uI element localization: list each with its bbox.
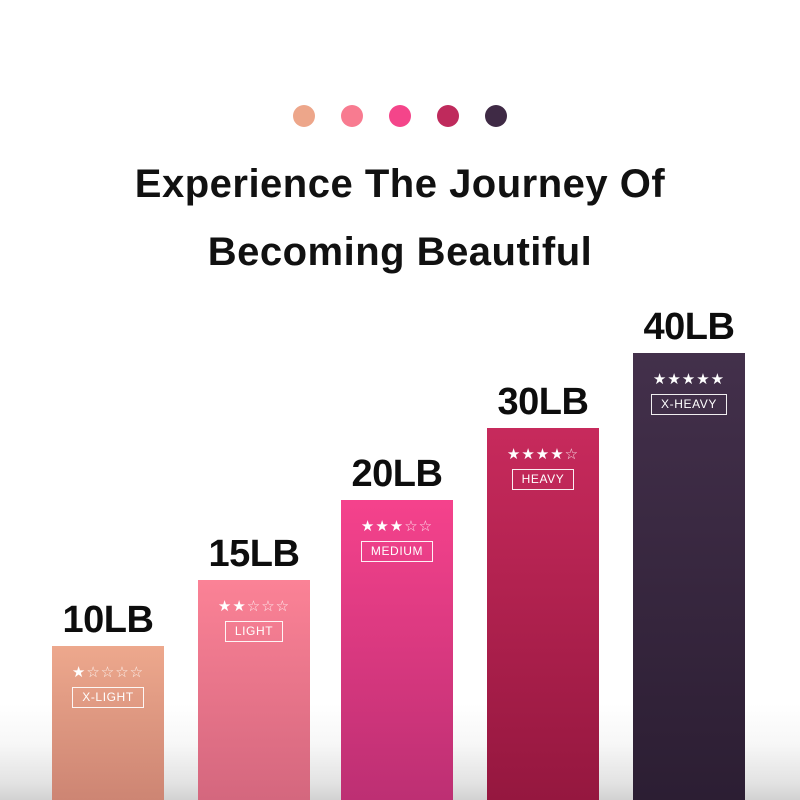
bar-level-badge: MEDIUM [361,541,433,562]
bar-fill: ★★★★★X-HEAVY [633,353,745,800]
bar-20lb[interactable]: 20LB★★★☆☆MEDIUM [341,500,453,800]
star-empty-icon: ☆ [101,663,115,681]
star-filled-icon: ★ [390,517,404,535]
star-empty-icon: ☆ [419,517,433,535]
bar-weight-label: 15LB [209,534,300,574]
star-filled-icon: ★ [507,445,521,463]
bar-fill: ★★★★☆HEAVY [487,428,599,800]
bar-level-badge: X-HEAVY [651,394,727,415]
bar-star-rating: ★★☆☆☆ [198,598,310,614]
star-empty-icon: ☆ [247,597,261,615]
star-filled-icon: ★ [72,663,86,681]
bar-star-rating: ★★★★☆ [487,446,599,462]
star-filled-icon: ★ [653,370,667,388]
star-filled-icon: ★ [361,517,375,535]
star-empty-icon: ☆ [86,663,100,681]
star-filled-icon: ★ [550,445,564,463]
bar-fill: ★★☆☆☆LIGHT [198,580,310,800]
star-empty-icon: ☆ [565,445,579,463]
bar-weight-label: 20LB [352,454,443,494]
bar-30lb[interactable]: 30LB★★★★☆HEAVY [487,428,599,800]
bar-star-rating: ★★★☆☆ [341,518,453,534]
bar-weight-label: 10LB [63,600,154,640]
bar-10lb[interactable]: 10LB★☆☆☆☆X-LIGHT [52,646,164,800]
bar-fill: ★★★☆☆MEDIUM [341,500,453,800]
star-filled-icon: ★ [711,370,725,388]
resistance-band-poster: Experience The Journey Of Becoming Beaut… [0,0,800,800]
star-filled-icon: ★ [682,370,696,388]
star-filled-icon: ★ [232,597,246,615]
star-filled-icon: ★ [521,445,535,463]
bar-level-badge: LIGHT [225,621,283,642]
star-empty-icon: ☆ [261,597,275,615]
bar-fill: ★☆☆☆☆X-LIGHT [52,646,164,800]
bar-15lb[interactable]: 15LB★★☆☆☆LIGHT [198,580,310,800]
bar-weight-label: 30LB [498,382,589,422]
star-empty-icon: ☆ [115,663,129,681]
bar-level-badge: HEAVY [512,469,575,490]
resistance-bar-chart: 10LB★☆☆☆☆X-LIGHT15LB★★☆☆☆LIGHT20LB★★★☆☆M… [0,0,800,800]
star-filled-icon: ★ [696,370,710,388]
star-empty-icon: ☆ [130,663,144,681]
star-empty-icon: ☆ [276,597,290,615]
bar-level-badge: X-LIGHT [72,687,144,708]
bar-40lb[interactable]: 40LB★★★★★X-HEAVY [633,353,745,800]
star-filled-icon: ★ [536,445,550,463]
star-empty-icon: ☆ [404,517,418,535]
star-filled-icon: ★ [667,370,681,388]
bar-weight-label: 40LB [644,307,735,347]
star-filled-icon: ★ [218,597,232,615]
bar-star-rating: ★☆☆☆☆ [52,664,164,680]
star-filled-icon: ★ [375,517,389,535]
bar-star-rating: ★★★★★ [633,371,745,387]
